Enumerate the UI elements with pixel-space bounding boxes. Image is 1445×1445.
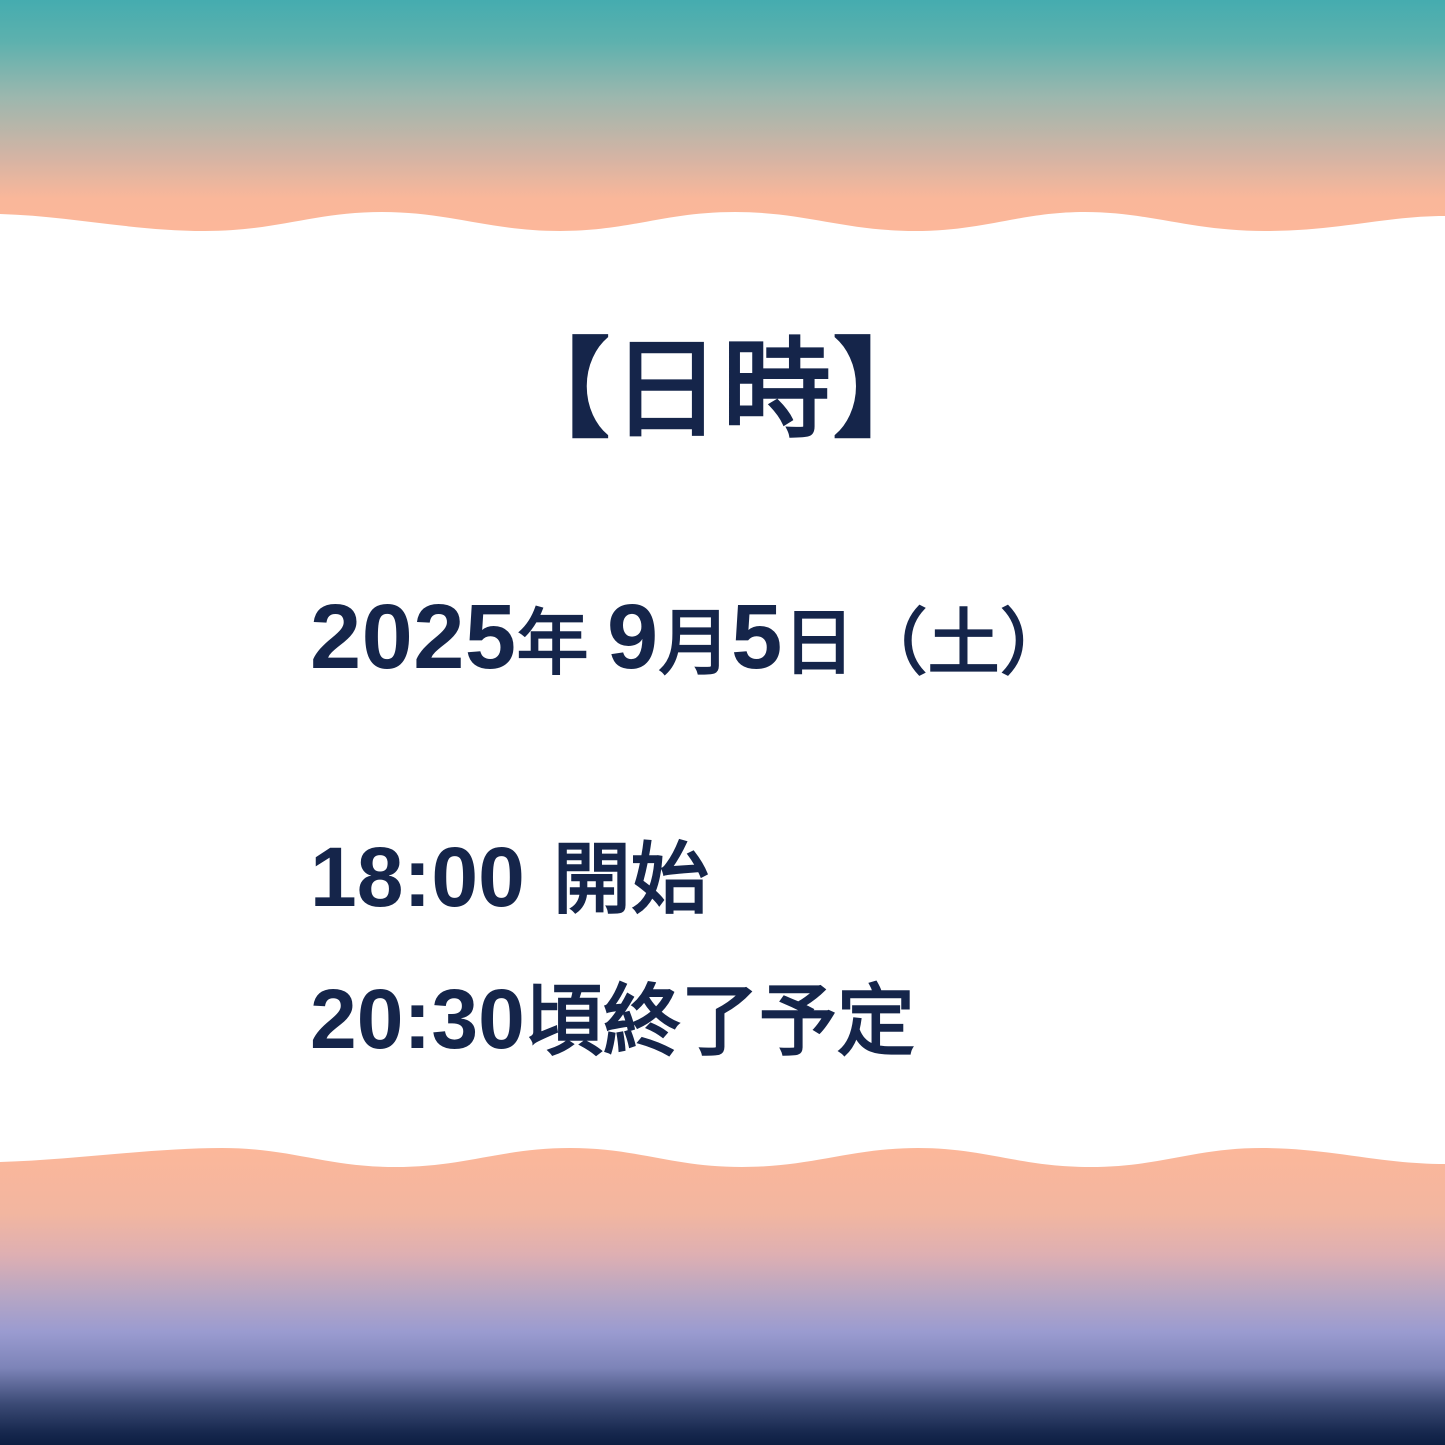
event-start-time-line: 18:00開始 — [310, 835, 1310, 919]
date-month-value: 9 — [607, 586, 659, 688]
event-date-line: 2025年9月5日（土） — [310, 591, 1310, 683]
page-title: 【日時】 — [502, 336, 943, 444]
bottom-wave-shape — [0, 1140, 1445, 1445]
event-info-card: 【日時】 2025年9月5日（土） 18:00開始 20:30頃終了予定 — [0, 0, 1445, 1445]
date-day-value: 5 — [731, 586, 783, 688]
date-day-unit: 日 — [783, 604, 855, 684]
date-month-unit: 月 — [659, 604, 731, 684]
start-time-value: 18:00 — [310, 830, 525, 924]
end-time-value: 20:30 — [310, 972, 525, 1066]
date-year-unit: 年 — [517, 604, 589, 684]
end-time-label: 頃終了予定 — [525, 977, 915, 1065]
top-wave-shape — [0, 0, 1445, 236]
event-details: 2025年9月5日（土） 18:00開始 20:30頃終了予定 — [310, 591, 1310, 1061]
bottom-gradient-band — [0, 1140, 1445, 1445]
start-time-label: 開始 — [553, 835, 709, 923]
card-content: 【日時】 2025年9月5日（土） 18:00開始 20:30頃終了予定 — [0, 236, 1445, 1142]
date-weekday: （土） — [855, 604, 1072, 684]
date-year-value: 2025 — [310, 586, 517, 688]
event-end-time-line: 20:30頃終了予定 — [310, 977, 1310, 1061]
top-gradient-band — [0, 0, 1445, 236]
title-row: 【日時】 — [0, 336, 1445, 444]
